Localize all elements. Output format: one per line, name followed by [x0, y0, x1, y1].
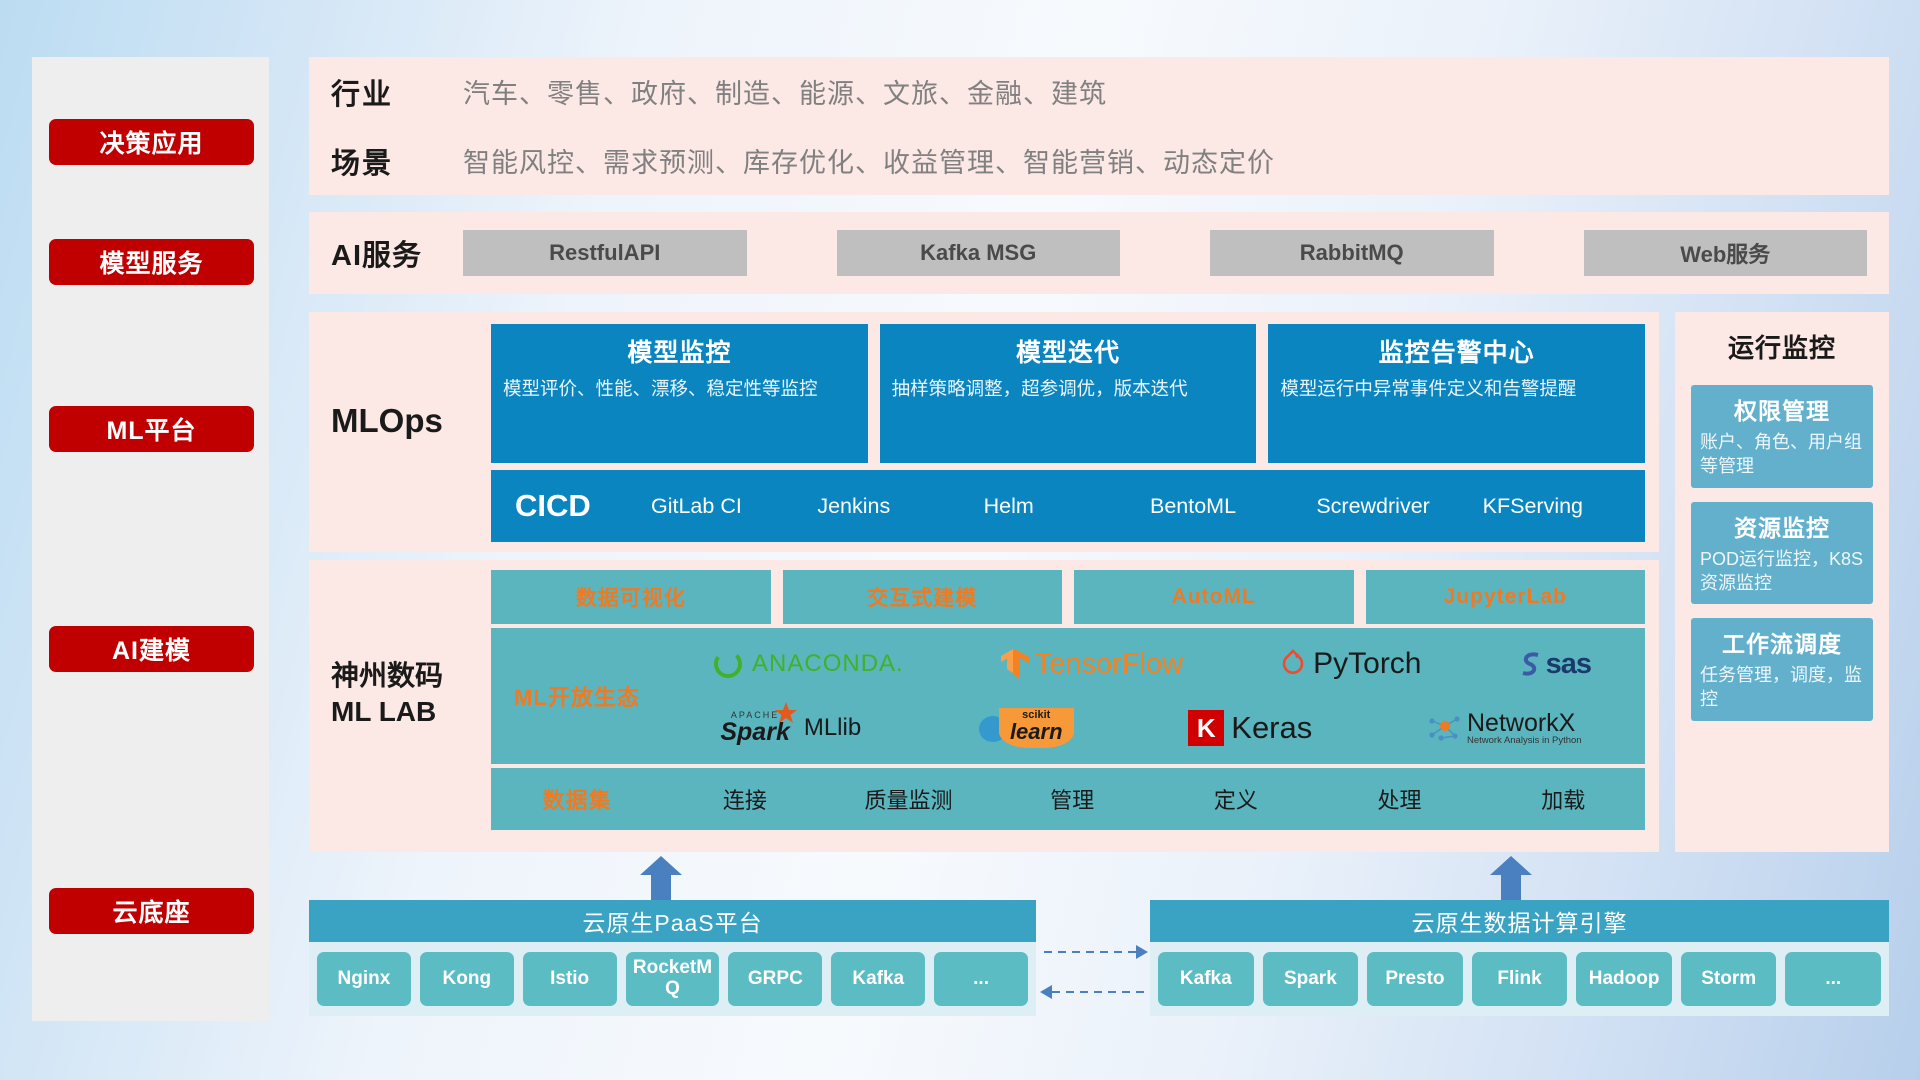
- engine-chip-flink[interactable]: Flink: [1472, 952, 1568, 1006]
- tab-automl[interactable]: AutoML: [1074, 570, 1354, 624]
- rail-item-label: 模型服务: [99, 244, 203, 280]
- ai-service-chip-kafka-msg[interactable]: Kafka MSG: [837, 230, 1121, 276]
- mlops-card-group: 模型监控 模型评价、性能、漂移、稳定性等监控 模型迭代 抽样策略调整，超参调优，…: [491, 324, 1645, 463]
- networkx-sublabel: Network Analysis in Python: [1467, 736, 1582, 746]
- dataset-item-quality-monitor[interactable]: 质量监测: [827, 783, 991, 815]
- up-arrow-icon-right: [1490, 856, 1532, 900]
- cloud-data-engine-chip-group: Kafka Spark Presto Flink Hadoop Storm ..…: [1150, 942, 1889, 1016]
- tab-interactive-modeling[interactable]: 交互式建模: [783, 570, 1063, 624]
- mlops-label: MLOps: [331, 324, 491, 542]
- monitor-card-desc: 账户、角色、用户组等管理: [1700, 430, 1864, 479]
- ml-lab-label: 神州数码 ML LAB: [331, 570, 491, 840]
- ml-ecosystem-row: ML开放生态 ANACONDA.: [491, 628, 1645, 764]
- cloud-chip-more[interactable]: ...: [934, 952, 1028, 1006]
- mlops-card-title: 监控告警中心: [1280, 333, 1633, 369]
- mlops-card-title: 模型监控: [503, 333, 856, 369]
- rail-item-model-service[interactable]: 模型服务: [49, 239, 254, 285]
- industry-row: 行业 汽车、零售、政府、制造、能源、文旅、金融、建筑: [309, 57, 1889, 126]
- rail-item-ai-modeling[interactable]: AI建模: [49, 626, 254, 672]
- cloud-chip-istio[interactable]: Istio: [523, 952, 617, 1006]
- scenario-values: 智能风控、需求预测、库存优化、收益管理、智能营销、动态定价: [463, 141, 1275, 180]
- dataset-item-define[interactable]: 定义: [1154, 783, 1318, 815]
- cicd-item-jenkins[interactable]: Jenkins: [817, 494, 979, 519]
- mlops-card-model-iteration[interactable]: 模型迭代 抽样策略调整，超参调优，版本迭代: [880, 324, 1257, 463]
- mlops-card-desc: 模型运行中异常事件定义和告警提醒: [1280, 377, 1633, 402]
- tab-jupyterlab[interactable]: JupyterLab: [1366, 570, 1646, 624]
- monitor-card-resource[interactable]: 资源监控 POD运行监控，K8S资源监控: [1691, 502, 1873, 605]
- cicd-item-gitlab-ci[interactable]: GitLab CI: [651, 494, 813, 519]
- pytorch-label: PyTorch: [1313, 647, 1421, 681]
- mlops-card-alert-center[interactable]: 监控告警中心 模型运行中异常事件定义和告警提醒: [1268, 324, 1645, 463]
- monitor-card-desc: 任务管理，调度，监控: [1700, 663, 1864, 712]
- anaconda-logo: ANACONDA.: [711, 647, 904, 681]
- rail-item-decision-app[interactable]: 决策应用: [49, 119, 254, 165]
- engine-chip-spark[interactable]: Spark: [1263, 952, 1359, 1006]
- monitor-card-title: 资源监控: [1700, 509, 1864, 543]
- monitor-card-title: 权限管理: [1700, 392, 1864, 426]
- cloud-data-engine-block: 云原生数据计算引擎 Kafka Spark Presto Flink Hadoo…: [1150, 900, 1889, 1016]
- ai-service-label: AI服务: [331, 232, 463, 274]
- cloud-chip-kong[interactable]: Kong: [420, 952, 514, 1006]
- ml-lab-band: 神州数码 ML LAB 数据可视化 交互式建模 AutoML JupyterLa…: [309, 560, 1659, 852]
- cicd-title: CICD: [515, 488, 647, 524]
- rail-item-label: ML平台: [106, 411, 196, 447]
- ai-service-chip-group: RestfulAPI Kafka MSG RabbitMQ Web服务: [463, 230, 1867, 276]
- cloud-data-engine-title: 云原生数据计算引擎: [1150, 900, 1889, 942]
- engine-chip-storm[interactable]: Storm: [1681, 952, 1777, 1006]
- industry-scenario-band: 行业 汽车、零售、政府、制造、能源、文旅、金融、建筑 场景 智能风控、需求预测、…: [309, 57, 1889, 195]
- spark-star-icon: [774, 701, 798, 725]
- tensorflow-icon: [1000, 647, 1030, 681]
- mlops-card-title: 模型迭代: [892, 333, 1245, 369]
- stack-layer-rail: 决策应用 模型服务 ML平台 AI建模 云底座: [32, 57, 269, 1021]
- ml-lab-label-line1: 神州数码: [331, 658, 491, 694]
- keras-label: Keras: [1231, 710, 1312, 746]
- engine-chip-more[interactable]: ...: [1785, 952, 1881, 1006]
- cicd-bar: CICD GitLab CI Jenkins Helm BentoML Scre…: [491, 470, 1645, 542]
- dataset-item-manage[interactable]: 管理: [990, 783, 1154, 815]
- anaconda-label: ANACONDA.: [752, 650, 904, 678]
- keras-icon: K: [1188, 710, 1224, 746]
- cloud-chip-grpc[interactable]: GRPC: [728, 952, 822, 1006]
- cloud-paas-chip-group: Nginx Kong Istio RocketMQ GRPC Kafka ...: [309, 942, 1036, 1016]
- mllib-label: MLlib: [804, 714, 861, 742]
- ecosystem-logo-row-2: APACHE Spark MLlib: [663, 697, 1639, 759]
- dataset-label: 数据集: [491, 783, 663, 815]
- rail-item-label: 决策应用: [99, 124, 203, 160]
- scenario-row: 场景 智能风控、需求预测、库存优化、收益管理、智能营销、动态定价: [309, 126, 1889, 195]
- monitor-card-desc: POD运行监控，K8S资源监控: [1700, 547, 1864, 596]
- learn-label: learn: [1010, 721, 1063, 743]
- engine-chip-presto[interactable]: Presto: [1367, 952, 1463, 1006]
- networkx-logo: NetworkX Network Analysis in Python: [1427, 710, 1582, 746]
- runtime-monitor-title: 运行监控: [1675, 312, 1889, 365]
- mlops-card-desc: 模型评价、性能、漂移、稳定性等监控: [503, 377, 856, 402]
- ai-service-chip-restfulapi[interactable]: RestfulAPI: [463, 230, 747, 276]
- networkx-label: NetworkX: [1467, 710, 1582, 736]
- sas-icon: [1518, 649, 1544, 679]
- pytorch-icon: [1279, 648, 1307, 680]
- cicd-item-bentoml[interactable]: BentoML: [1150, 494, 1312, 519]
- rail-item-cloud-foundation[interactable]: 云底座: [49, 888, 254, 934]
- cloud-chip-rocketmq[interactable]: RocketMQ: [626, 952, 720, 1006]
- mlops-card-model-monitoring[interactable]: 模型监控 模型评价、性能、漂移、稳定性等监控: [491, 324, 868, 463]
- scenario-key: 场景: [331, 140, 463, 182]
- ml-ecosystem-label: ML开放生态: [491, 680, 663, 712]
- rail-item-label: AI建模: [112, 631, 191, 667]
- spark-mllib-logo: APACHE Spark MLlib: [720, 711, 861, 745]
- cicd-item-helm[interactable]: Helm: [984, 494, 1146, 519]
- networkx-icon: [1427, 712, 1463, 744]
- keras-logo: K Keras: [1188, 710, 1312, 746]
- dataset-item-load[interactable]: 加载: [1481, 783, 1645, 815]
- mlops-card-desc: 抽样策略调整，超参调优，版本迭代: [892, 377, 1245, 402]
- cicd-item-kfserving[interactable]: KFServing: [1483, 494, 1645, 519]
- pytorch-logo: PyTorch: [1279, 647, 1421, 681]
- scikit-learn-logo: scikit learn: [976, 708, 1074, 748]
- anaconda-icon: [711, 647, 745, 681]
- monitor-card-title: 工作流调度: [1700, 625, 1864, 659]
- dataset-item-process[interactable]: 处理: [1318, 783, 1482, 815]
- industry-values: 汽车、零售、政府、制造、能源、文旅、金融、建筑: [463, 72, 1107, 111]
- sas-logo: sas: [1518, 648, 1591, 681]
- tensorflow-logo: TensorFlow: [1000, 647, 1183, 681]
- dataset-row: 数据集 连接 质量监测 管理 定义 处理 加载: [491, 768, 1645, 830]
- rail-item-ml-platform[interactable]: ML平台: [49, 406, 254, 452]
- cicd-item-screwdriver[interactable]: Screwdriver: [1316, 494, 1478, 519]
- cloud-paas-block: 云原生PaaS平台 Nginx Kong Istio RocketMQ GRPC…: [309, 900, 1036, 1016]
- sas-label: sas: [1546, 648, 1591, 681]
- up-arrow-icon-left: [640, 856, 682, 900]
- engine-chip-hadoop[interactable]: Hadoop: [1576, 952, 1672, 1006]
- monitor-card-permission[interactable]: 权限管理 账户、角色、用户组等管理: [1691, 385, 1873, 488]
- bidirectional-dashed-connector-icon: [1040, 940, 1148, 1004]
- ecosystem-logo-row-1: ANACONDA. TensorFlow: [663, 633, 1639, 695]
- tab-data-visualization[interactable]: 数据可视化: [491, 570, 771, 624]
- ai-service-band: AI服务 RestfulAPI Kafka MSG RabbitMQ Web服务: [309, 212, 1889, 294]
- industry-key: 行业: [331, 71, 463, 113]
- ai-service-chip-rabbitmq[interactable]: RabbitMQ: [1210, 230, 1494, 276]
- engine-chip-kafka[interactable]: Kafka: [1158, 952, 1254, 1006]
- tensorflow-label: TensorFlow: [1035, 648, 1183, 681]
- cloud-chip-nginx[interactable]: Nginx: [317, 952, 411, 1006]
- monitor-card-workflow[interactable]: 工作流调度 任务管理，调度，监控: [1691, 618, 1873, 721]
- ml-lab-label-line2: ML LAB: [331, 694, 491, 730]
- ml-lab-tab-group: 数据可视化 交互式建模 AutoML JupyterLab: [491, 570, 1645, 624]
- cloud-paas-title: 云原生PaaS平台: [309, 900, 1036, 942]
- ai-service-chip-web-service[interactable]: Web服务: [1584, 230, 1868, 276]
- dataset-item-connect[interactable]: 连接: [663, 783, 827, 815]
- rail-item-label: 云底座: [112, 893, 190, 929]
- mlops-band: MLOps 模型监控 模型评价、性能、漂移、稳定性等监控 模型迭代 抽样策略调整…: [309, 312, 1659, 552]
- cloud-chip-kafka[interactable]: Kafka: [831, 952, 925, 1006]
- runtime-monitor-panel: 运行监控 权限管理 账户、角色、用户组等管理 资源监控 POD运行监控，K8S资…: [1675, 312, 1889, 852]
